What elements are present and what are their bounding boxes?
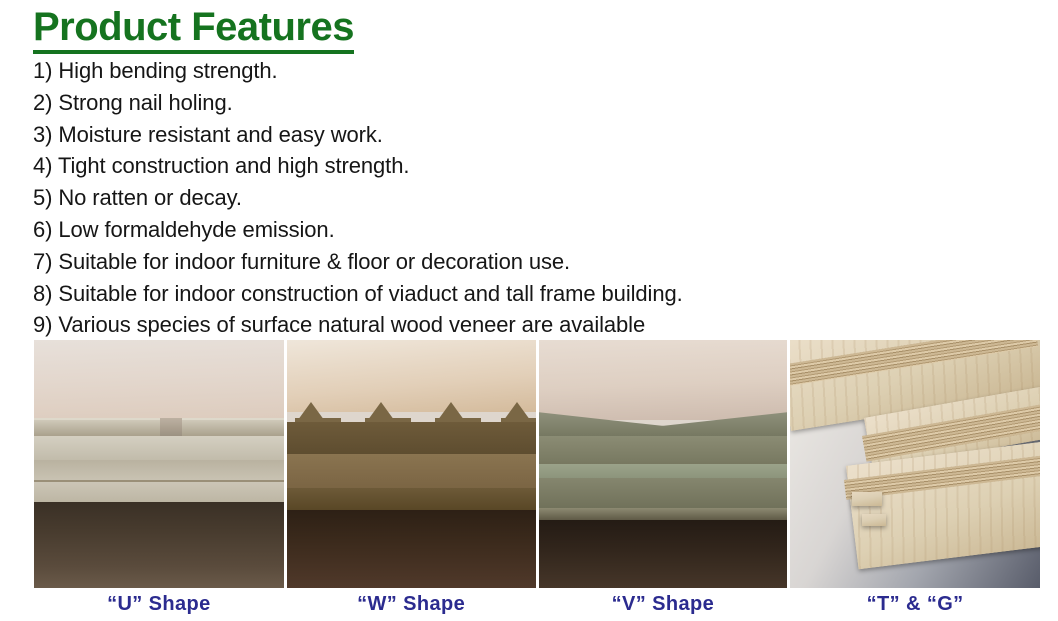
tongue-tab xyxy=(852,492,882,506)
feature-item: 3) Moisture resistant and easy work. xyxy=(33,119,1033,151)
caption-v-shape: “V” Shape xyxy=(539,591,788,619)
product-image-v-shape xyxy=(539,340,788,588)
w-profile-teeth xyxy=(287,402,536,424)
board-edge-line xyxy=(539,508,788,520)
image-foreground-shadow xyxy=(34,502,284,588)
image-foreground-shadow xyxy=(287,510,536,588)
board-layer xyxy=(287,454,536,490)
product-features-page: Product Features 1) High bending strengt… xyxy=(0,0,1058,621)
image-background xyxy=(34,340,284,426)
feature-item: 5) No ratten or decay. xyxy=(33,182,1033,214)
image-foreground-shadow xyxy=(539,520,788,588)
board-layer xyxy=(287,488,536,512)
board-layer xyxy=(34,460,284,482)
board-layer xyxy=(287,422,536,456)
page-title-container: Product Features xyxy=(33,5,354,54)
feature-item: 7) Suitable for indoor furniture & floor… xyxy=(33,246,1033,278)
feature-item: 2) Strong nail holing. xyxy=(33,87,1033,119)
feature-item: 9) Various species of surface natural wo… xyxy=(33,309,1033,341)
caption-u-shape: “U” Shape xyxy=(34,591,284,619)
board-layer xyxy=(539,436,788,466)
groove-tab xyxy=(862,514,886,526)
image-background xyxy=(539,340,788,420)
caption-w-shape: “W” Shape xyxy=(287,591,536,619)
board-layer xyxy=(34,480,284,502)
board-edge-line xyxy=(34,480,284,482)
caption-tongue-and-groove: “T” & “G” xyxy=(790,591,1040,619)
product-image-gallery xyxy=(34,340,1040,588)
feature-item: 6) Low formaldehyde emission. xyxy=(33,214,1033,246)
board-layer xyxy=(539,478,788,510)
product-image-w-shape xyxy=(287,340,536,588)
feature-item: 8) Suitable for indoor construction of v… xyxy=(33,278,1033,310)
gallery-captions: “U” Shape “W” Shape “V” Shape “T” & “G” xyxy=(34,591,1040,619)
page-title: Product Features xyxy=(33,5,354,54)
feature-list: 1) High bending strength. 2) Strong nail… xyxy=(33,55,1033,341)
product-image-tongue-and-groove xyxy=(790,340,1040,588)
feature-item: 4) Tight construction and high strength. xyxy=(33,150,1033,182)
feature-item: 1) High bending strength. xyxy=(33,55,1033,87)
product-image-u-shape xyxy=(34,340,284,588)
board-layer xyxy=(34,436,284,462)
